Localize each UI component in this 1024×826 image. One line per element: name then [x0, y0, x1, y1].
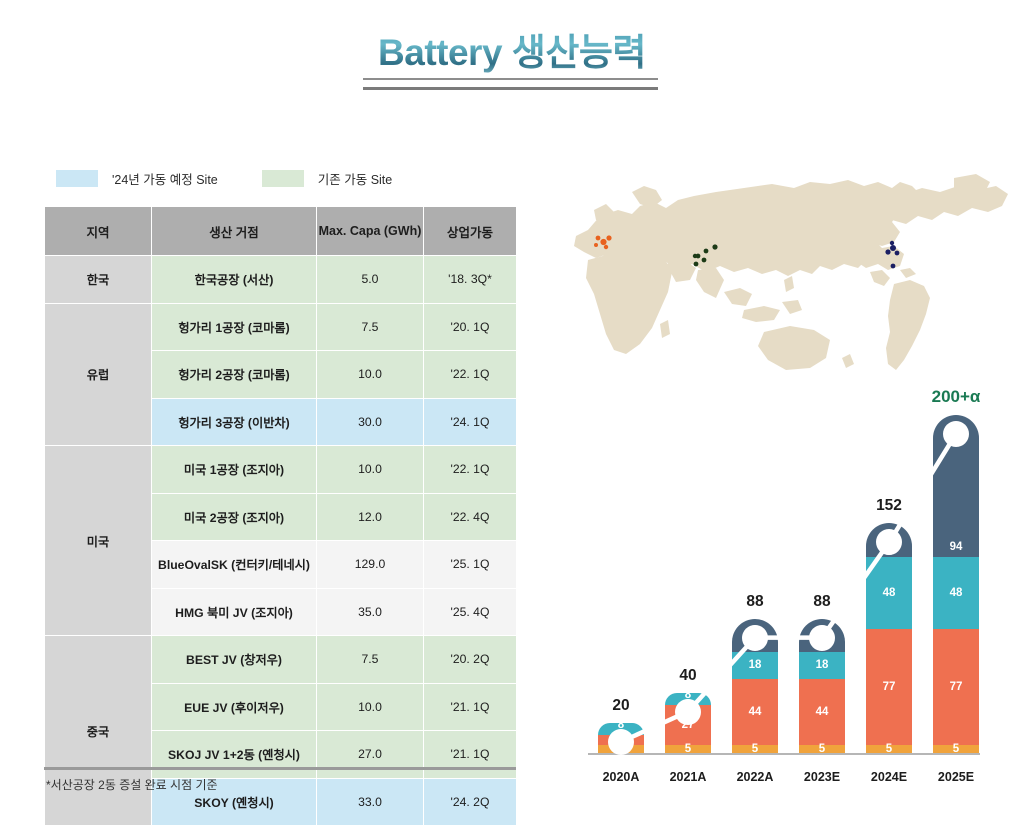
cell-capacity: 7.5: [317, 636, 424, 684]
bar-top-marker-2020A: [608, 729, 634, 755]
north-america-site-marker: [890, 245, 896, 251]
cell-region: 미국: [45, 446, 152, 636]
cell-region: 중국: [45, 636, 152, 826]
legend-swatch-existing: [262, 170, 304, 187]
bar-total-label-2021A: 40: [643, 667, 733, 685]
cell-start: '22. 4Q: [424, 493, 517, 541]
legend-swatch-planned-2024: [56, 170, 98, 187]
legend-item-planned-2024: '24년 가동 예정 Site: [56, 169, 218, 188]
cell-start: '18. 3Q*: [424, 256, 517, 304]
bar-segment-korea: 5: [732, 745, 778, 753]
cell-site: SKOJ JV 1+2동 (옌청시): [152, 731, 317, 779]
x-axis-label-2022A: 2022A: [720, 770, 790, 784]
cell-site: 헝가리 3공장 (이반차): [152, 398, 317, 446]
stacked-bar: 9448775: [933, 415, 979, 753]
cell-capacity: 10.0: [317, 683, 424, 731]
table-header-row: 지역 생산 거점 Max. Capa (GWh) 상업가동: [45, 207, 517, 256]
bar-segment-china: 44: [799, 679, 845, 745]
cell-capacity: 5.0: [317, 256, 424, 304]
global-sites-map: [548, 152, 1016, 392]
asia-site-marker: [702, 258, 707, 263]
cell-site: 한국공장 (서산): [152, 256, 317, 304]
cell-start: '25. 1Q: [424, 541, 517, 589]
bar-segment-europe: 18: [799, 652, 845, 679]
north-america-site-marker: [891, 264, 896, 269]
legend-label-existing: 기존 가동 Site: [318, 169, 393, 188]
europe-site-marker: [604, 245, 608, 249]
bar-total-label-2024E: 152: [844, 497, 934, 515]
x-axis-label-2020A: 2020A: [586, 770, 656, 784]
bar-column-2020A[interactable]: 87520: [598, 723, 644, 753]
asia-site-marker: [693, 254, 697, 258]
column-header-start: 상업가동: [424, 207, 517, 256]
bar-segment-china: 77: [866, 629, 912, 745]
cell-capacity: 10.0: [317, 446, 424, 494]
bar-segment-china: 44: [732, 679, 778, 745]
korea-site-marker: [712, 244, 717, 249]
cell-site: 미국 1공장 (조지아): [152, 446, 317, 494]
cell-start: '24. 2Q: [424, 778, 517, 826]
bar-column-2023E[interactable]: 221844588: [799, 619, 845, 753]
column-header-capacity: Max. Capa (GWh): [317, 207, 424, 256]
x-axis-label-2023E: 2023E: [787, 770, 857, 784]
cell-start: '22. 1Q: [424, 351, 517, 399]
table-row: 한국한국공장 (서산)5.0'18. 3Q*: [45, 256, 517, 304]
table-row: 미국미국 1공장 (조지아)10.0'22. 1Q: [45, 446, 517, 494]
page-title: Battery 생산능력: [372, 22, 652, 80]
cell-site: 헝가리 1공장 (코마롬): [152, 303, 317, 351]
legend-label-planned-2024: '24년 가동 예정 Site: [112, 169, 218, 188]
cell-site: BlueOvalSK (컨터키/테네시): [152, 541, 317, 589]
stacked-bar: 2248775: [866, 523, 912, 753]
bar-total-label-2025E: 200+α: [911, 387, 1001, 407]
europe-site-marker: [596, 236, 601, 241]
production-capacity-table: 지역 생산 거점 Max. Capa (GWh) 상업가동 한국한국공장 (서산…: [44, 206, 517, 826]
bar-segment-korea: 5: [799, 745, 845, 753]
cell-capacity: 35.0: [317, 588, 424, 636]
asia-site-marker: [694, 262, 699, 267]
bar-column-2022A[interactable]: 221844588: [732, 619, 778, 753]
cell-start: '22. 1Q: [424, 446, 517, 494]
cell-capacity: 33.0: [317, 778, 424, 826]
column-header-site: 생산 거점: [152, 207, 317, 256]
table-footnote: *서산공장 2동 증설 완료 시점 기준: [46, 776, 218, 793]
cell-site: 미국 2공장 (조지아): [152, 493, 317, 541]
bar-segment-korea: 5: [933, 745, 979, 753]
cell-start: '21. 1Q: [424, 731, 517, 779]
bar-segment-korea: 5: [665, 745, 711, 753]
cell-capacity: 30.0: [317, 398, 424, 446]
world-map-svg: [548, 152, 1016, 392]
north-america-site-marker: [895, 251, 900, 256]
bar-segment-china: 77: [933, 629, 979, 745]
bar-top-marker-2023E: [809, 625, 835, 651]
cell-start: '24. 1Q: [424, 398, 517, 446]
bar-column-2025E[interactable]: 9448775200+α: [933, 415, 979, 753]
bar-segment-europe: 48: [933, 557, 979, 629]
bar-top-marker-2025E: [943, 421, 969, 447]
cell-capacity: 10.0: [317, 351, 424, 399]
asia-site-marker: [704, 249, 709, 254]
cell-start: '20. 1Q: [424, 303, 517, 351]
bar-column-2024E[interactable]: 2248775152: [866, 523, 912, 753]
bar-segment-europe: 18: [732, 652, 778, 679]
bar-top-marker-2022A: [742, 625, 768, 651]
cell-capacity: 129.0: [317, 541, 424, 589]
site-status-legend: '24년 가동 예정 Site 기존 가동 Site: [56, 169, 436, 188]
title-underline-rule: [363, 78, 658, 90]
bar-top-marker-2021A: [675, 699, 701, 725]
chart-baseline-axis: [588, 753, 980, 755]
cell-start: '25. 4Q: [424, 588, 517, 636]
legend-item-existing: 기존 가동 Site: [262, 169, 393, 188]
europe-site-marker: [594, 243, 598, 247]
north-america-site-marker: [885, 249, 890, 254]
column-header-region: 지역: [45, 207, 152, 256]
cell-site: EUE JV (후이저우): [152, 683, 317, 731]
table-row: 중국BEST JV (창저우)7.5'20. 2Q: [45, 636, 517, 684]
cell-start: '21. 1Q: [424, 683, 517, 731]
bar-total-label-2020A: 20: [576, 697, 666, 715]
europe-site-marker: [606, 235, 611, 240]
x-axis-label-2024E: 2024E: [854, 770, 924, 784]
x-axis-label-2025E: 2025E: [921, 770, 991, 784]
bar-total-label-2023E: 88: [777, 593, 867, 611]
europe-site-marker: [600, 239, 606, 245]
table-row: 유럽헝가리 1공장 (코마롬)7.5'20. 1Q: [45, 303, 517, 351]
cell-capacity: 12.0: [317, 493, 424, 541]
cell-start: '20. 2Q: [424, 636, 517, 684]
cell-site: HMG 북미 JV (조지아): [152, 588, 317, 636]
cell-capacity: 27.0: [317, 731, 424, 779]
bar-segment-korea: 5: [866, 745, 912, 753]
cell-capacity: 7.5: [317, 303, 424, 351]
title-block: Battery 생산능력: [0, 22, 1024, 80]
cell-site: BEST JV (창저우): [152, 636, 317, 684]
cell-region: 한국: [45, 256, 152, 304]
table-bottom-rule: [44, 767, 516, 770]
map-landmass: [574, 174, 1008, 370]
cell-region: 유럽: [45, 303, 152, 446]
capacity-growth-chart: 875202020A8275402021A2218445882022A22184…: [588, 392, 1008, 792]
bar-column-2021A[interactable]: 827540: [665, 693, 711, 753]
north-america-site-marker: [890, 241, 894, 245]
x-axis-label-2021A: 2021A: [653, 770, 723, 784]
bar-segment-europe: 48: [866, 557, 912, 629]
cell-site: 헝가리 2공장 (코마롬): [152, 351, 317, 399]
